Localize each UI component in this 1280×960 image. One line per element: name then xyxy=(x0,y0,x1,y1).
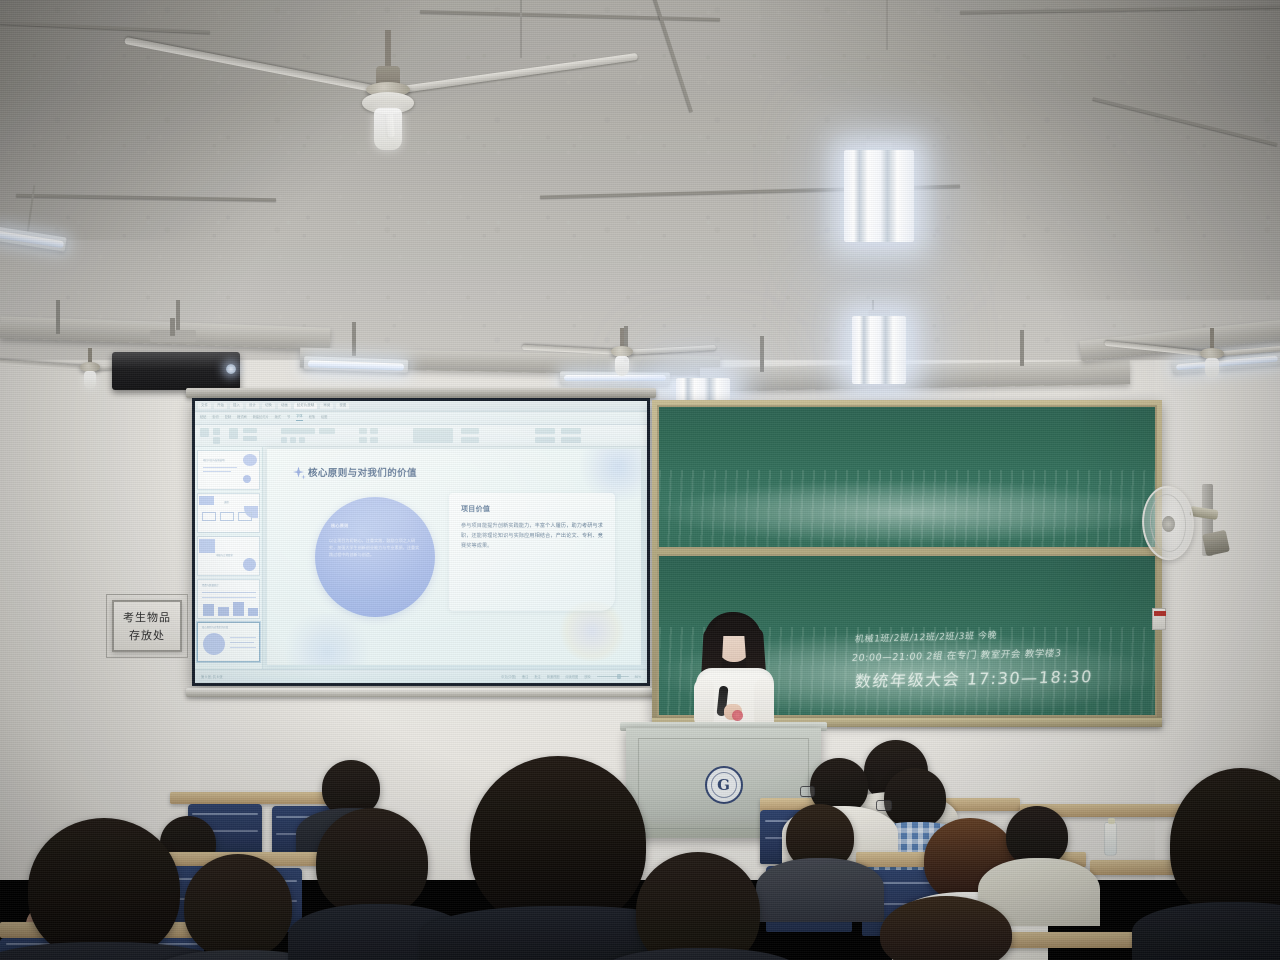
hanging-lamp-upper xyxy=(844,150,914,250)
ppt-tab-0[interactable]: 文件 xyxy=(198,403,211,408)
fan-light-globe xyxy=(374,108,402,150)
thumb-line xyxy=(230,637,256,638)
tool-icon-section[interactable] xyxy=(243,436,257,441)
ppt-ribbon-bar: 粘贴 剪切 复制 格式刷 新建幻灯片 版式 节 字体 段落 绘图 xyxy=(195,412,647,425)
thumb-box xyxy=(220,512,234,521)
thumb-caption: 申报与立项要求 xyxy=(216,554,233,557)
examinee-belongings-sign: 考生物品 存放处 xyxy=(112,600,182,652)
projector-lens xyxy=(226,364,236,374)
slide-decor-bottom-left xyxy=(277,613,377,665)
thumb-circle xyxy=(243,558,256,571)
ceiling-fan-mid-right xyxy=(622,350,623,351)
status-comments[interactable]: 批注 xyxy=(534,674,540,679)
tool-icon-dictate[interactable] xyxy=(561,437,581,443)
ppt-tab-7[interactable]: 审阅 xyxy=(320,403,333,408)
slide-thumbnail-4[interactable]: 经费与数据统计 xyxy=(197,579,260,619)
fan-light-globe xyxy=(615,356,629,376)
thumb-line xyxy=(230,642,254,643)
audience-glasses-13 xyxy=(800,786,815,797)
thumb-circle xyxy=(203,633,225,655)
classroom-photo-scene: 文件 开始 插入 设计 切换 动画 幻灯片放映 审阅 视图 粘贴 剪切 复制 格… xyxy=(0,0,1280,960)
slide-title-row: 核心原则与对我们的价值 xyxy=(293,465,417,479)
hanging-wire-3 xyxy=(886,0,888,50)
audience-shoulders-7 xyxy=(756,858,884,922)
tool-icon-arrange[interactable] xyxy=(461,428,479,434)
hanging-wire-2 xyxy=(520,0,522,58)
thumb-line xyxy=(230,647,256,648)
status-right-group: 中文(中国) 备注 批注 普通视图 阅读视图 放映 86% xyxy=(501,674,641,679)
tool-icon-paste[interactable] xyxy=(200,428,209,437)
ppt-tab-6[interactable]: 幻灯片放映 xyxy=(294,403,317,408)
ppt-tab-bar: 文件 开始 插入 设计 切换 动画 幻灯片放映 审阅 视图 xyxy=(195,401,647,412)
tool-icon-bullets[interactable] xyxy=(359,437,367,443)
tool-icon-font-box[interactable] xyxy=(281,428,315,434)
status-slide-count: 第 5 张, 共 8 张 xyxy=(201,674,223,679)
thumb-line xyxy=(202,597,256,598)
emergency-switch-box[interactable] xyxy=(1152,608,1166,630)
tool-icon-align-center[interactable] xyxy=(370,428,378,434)
thumb-blob xyxy=(243,454,257,466)
panel-heading: 项目价值 xyxy=(461,504,603,514)
fan-light-globe xyxy=(84,371,96,389)
ppt-tab-1[interactable]: 开始 xyxy=(214,403,227,408)
ribbon-item-7[interactable]: 字体 xyxy=(296,415,302,420)
zoom-level-label: 86% xyxy=(635,675,641,679)
presenter-speaking xyxy=(688,612,780,734)
ribbon-item-3[interactable]: 格式刷 xyxy=(237,416,247,419)
slide-thumbnail-1[interactable]: 项目介绍与背景说明 xyxy=(197,450,260,490)
thumb-circle xyxy=(243,475,251,483)
zoom-slider[interactable] xyxy=(597,676,629,678)
chalk-streaks xyxy=(659,470,1155,547)
projector-mount-rod xyxy=(170,318,175,336)
slide-thumbnail-pane[interactable]: 项目介绍与背景说明 流程 申报与立项要求 xyxy=(195,447,263,669)
sparkle-icon xyxy=(293,467,304,478)
tool-icon-quickstyles[interactable] xyxy=(461,437,479,443)
slide-thumbnail-2[interactable]: 流程 xyxy=(197,493,260,533)
panel-body-text: 参与项目能提升创新实践能力，丰富个人履历，助力考研与求职，还能将理论知识与实际应… xyxy=(461,521,603,552)
thumb-blob xyxy=(199,496,214,505)
thumb-caption: 流程 xyxy=(224,501,229,504)
fan-wall-mount xyxy=(1202,530,1230,557)
ppt-tools-strip xyxy=(195,425,647,447)
ceiling-fan-front xyxy=(388,88,389,89)
ribbon-item-6[interactable]: 节 xyxy=(287,416,290,419)
beam-hanger-rod-1 xyxy=(56,300,60,334)
zoom-slider-knob[interactable] xyxy=(617,674,621,679)
screen-surface: 文件 开始 插入 设计 切换 动画 幻灯片放映 审阅 视图 粘贴 剪切 复制 格… xyxy=(195,401,647,683)
ppt-tab-2[interactable]: 插入 xyxy=(230,403,243,408)
audience-head-6 xyxy=(1170,768,1280,920)
beam-hanger-rod-3 xyxy=(352,322,356,356)
thumb-box xyxy=(238,512,252,521)
ribbon-item-5[interactable]: 版式 xyxy=(275,416,281,419)
slide-thumbnail-5[interactable]: 核心原则与对我们的价值 xyxy=(197,622,260,662)
thumb-bar xyxy=(248,608,258,616)
thumb-caption: 项目介绍与背景说明 xyxy=(203,459,225,462)
circle-heading: 核心原则 xyxy=(331,523,349,529)
slide-thumbnail-3[interactable]: 申报与立项要求 xyxy=(197,536,260,576)
ribbon-item-2[interactable]: 复制 xyxy=(225,416,231,419)
fan-center-hub xyxy=(1162,516,1175,532)
thumb-bar xyxy=(218,607,229,616)
slide-circle-shape: 核心原则 以让项目为初始心，注重实践，鼓励立项之入研究，加强大学生创新创业能力与… xyxy=(315,497,435,617)
water-bottle xyxy=(1104,822,1117,856)
audience-head-4 xyxy=(470,756,646,928)
blackboard-panel-top[interactable] xyxy=(657,405,1157,549)
ceiling-shadow-left xyxy=(0,0,420,240)
ppt-tab-4[interactable]: 切换 xyxy=(262,403,275,408)
audience-head-2 xyxy=(184,854,292,958)
thumb-caption: 经费与数据统计 xyxy=(202,584,219,587)
fan-downrod xyxy=(620,328,624,348)
projector xyxy=(112,352,240,390)
sign-line-2: 存放处 xyxy=(129,627,165,643)
screen-roller-top xyxy=(186,388,656,398)
tool-icon-underline[interactable] xyxy=(299,437,305,443)
tool-icon-bold[interactable] xyxy=(281,437,287,443)
tool-icon-fontsize-box[interactable] xyxy=(319,428,335,434)
ribbon-item-8[interactable]: 段落 xyxy=(309,416,315,419)
slide-value-panel: 项目价值 参与项目能提升创新实践能力，丰富个人履历，助力考研与求职，还能将理论知… xyxy=(449,493,615,611)
slide-canvas[interactable]: 核心原则与对我们的价值 核心原则 以让项目为初始心，注重实践，鼓励立项之入研究，… xyxy=(267,449,641,665)
tool-icon-shapes[interactable] xyxy=(413,428,453,443)
presenter-arm-right xyxy=(754,678,774,728)
ppt-status-bar: 第 5 张, 共 8 张 中文(中国) 备注 批注 普通视图 阅读视图 放映 8… xyxy=(195,669,647,683)
tool-icon-italic[interactable] xyxy=(290,437,296,443)
tool-icon-align-left[interactable] xyxy=(359,428,367,434)
ceiling-fan-far-right xyxy=(1212,352,1213,353)
ppt-tab-8[interactable]: 视图 xyxy=(336,403,349,408)
fan-arm xyxy=(1189,506,1218,520)
audience-area xyxy=(0,726,1280,960)
lamp-body xyxy=(844,150,914,242)
screen-bottom-bar xyxy=(186,688,656,697)
ppt-tab-5[interactable]: 动画 xyxy=(278,403,291,408)
thumb-line xyxy=(203,471,231,472)
sign-line-1: 考生物品 xyxy=(123,609,171,625)
thumb-line xyxy=(202,592,256,593)
beam-hanger-rod-2 xyxy=(176,300,180,334)
ribbon-item-1[interactable]: 剪切 xyxy=(212,416,218,419)
ribbon-item-9[interactable]: 绘图 xyxy=(321,416,327,419)
beam-hanger-rod-6 xyxy=(1020,330,1024,366)
tool-icon-cut[interactable] xyxy=(213,428,220,435)
sparkle-small-icon xyxy=(301,475,306,480)
presenter-arm-left xyxy=(694,678,714,728)
audience-head-3 xyxy=(316,808,428,916)
beam-hanger-rod-5 xyxy=(760,336,764,372)
tool-icon-find[interactable] xyxy=(535,428,555,434)
audience-glasses-12 xyxy=(876,800,892,811)
tool-icon-numbering[interactable] xyxy=(370,437,378,443)
ribbon-item-0[interactable]: 粘贴 xyxy=(200,416,206,419)
thumb-line xyxy=(203,467,237,468)
status-view-reading[interactable]: 阅读视图 xyxy=(565,674,578,679)
thumb-blob xyxy=(199,539,215,553)
ceiling-shadow-right xyxy=(760,0,1280,300)
projection-screen[interactable]: 文件 开始 插入 设计 切换 动画 幻灯片放映 审阅 视图 粘贴 剪切 复制 格… xyxy=(192,398,650,686)
audience-head-9 xyxy=(1006,806,1068,866)
tool-icon-newslide[interactable] xyxy=(229,428,238,439)
slide-title: 核心原则与对我们的价值 xyxy=(308,465,417,479)
lamp-body xyxy=(852,316,906,384)
tool-icon-replace[interactable] xyxy=(535,437,555,443)
audience-shoulders-6 xyxy=(1132,902,1280,960)
thumb-box xyxy=(202,512,216,521)
fan-downrod xyxy=(1210,328,1214,350)
status-language: 中文(中国) xyxy=(501,674,516,679)
wall-mounted-fan xyxy=(1142,478,1238,588)
tool-icon-layout[interactable] xyxy=(243,428,257,433)
tool-icon-copy[interactable] xyxy=(213,437,220,444)
thumb-bar xyxy=(233,602,244,616)
status-notes[interactable]: 备注 xyxy=(522,674,528,679)
status-view-normal[interactable]: 普通视图 xyxy=(547,674,560,679)
audience-head-12 xyxy=(884,768,946,828)
shirt-graphic xyxy=(732,710,743,721)
blackboard-text-line-3: 数统年级大会 17:30—18:30 xyxy=(854,663,1095,692)
audience-head-1 xyxy=(28,818,180,960)
fluorescent-tube-center xyxy=(564,375,666,381)
thumb-bar xyxy=(203,604,214,616)
fan-downrod xyxy=(385,30,391,70)
status-slideshow[interactable]: 放映 xyxy=(584,674,590,679)
tool-icon-select[interactable] xyxy=(561,428,581,434)
audience-head-5 xyxy=(636,852,760,960)
hanging-lamp-mid xyxy=(852,316,906,388)
ribbon-item-4[interactable]: 新建幻灯片 xyxy=(253,416,269,419)
ceiling-fan-mid-left xyxy=(90,366,91,367)
fan-light-globe xyxy=(1205,358,1219,378)
ppt-tab-3[interactable]: 设计 xyxy=(246,403,259,408)
circle-body-text: 以让项目为初始心，注重实践，鼓励立项之入研究，加强大学生创新创业能力与专业素质，… xyxy=(329,537,421,558)
thumb-caption: 核心原则与对我们的价值 xyxy=(202,626,228,629)
